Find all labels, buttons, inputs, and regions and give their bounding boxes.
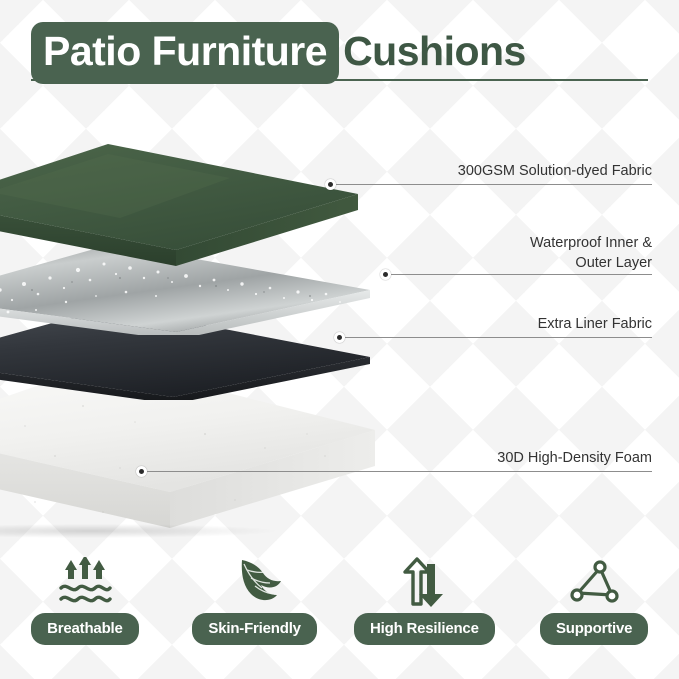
title-highlight-pill: Patio Furniture: [31, 22, 339, 84]
callout-label-fabric: 300GSM Solution-dyed Fabric: [352, 161, 652, 181]
page-title: Patio Furniture Cushions: [31, 22, 526, 84]
feature-badge-row: Breathable Skin-Friendly: [0, 555, 679, 665]
feather-icon: [226, 555, 284, 611]
feature-label-supportive: Supportive: [540, 613, 648, 645]
callout-label-liner: Extra Liner Fabric: [352, 314, 652, 334]
up-down-arrows-icon: [398, 555, 450, 611]
callout-label-waterproof: Waterproof Inner & Outer Layer: [352, 233, 652, 273]
title-plain-text: Cushions: [339, 22, 526, 84]
header: Patio Furniture Cushions: [0, 0, 679, 88]
feature-breathable[interactable]: Breathable: [10, 555, 160, 645]
drop-shadow: [0, 524, 275, 538]
title-divider: [31, 79, 648, 81]
callout-line-fabric: [336, 184, 652, 185]
feature-skin-friendly[interactable]: Skin-Friendly: [180, 555, 330, 645]
callout-line-waterproof: [391, 274, 652, 275]
callout-dot-foam[interactable]: [136, 466, 147, 477]
callout-line-liner: [345, 337, 652, 338]
breathable-airflow-waves-icon: [54, 555, 116, 611]
feature-label-high-resilience: High Resilience: [354, 613, 495, 645]
callout-line-foam: [147, 471, 652, 472]
feature-high-resilience[interactable]: High Resilience: [349, 555, 499, 645]
triangle-nodes-icon: [566, 555, 622, 611]
feature-supportive[interactable]: Supportive: [519, 555, 669, 645]
callout-dot-liner[interactable]: [334, 332, 345, 343]
layer-fabric: [0, 140, 360, 270]
feature-label-breathable: Breathable: [31, 613, 139, 645]
callout-dot-fabric[interactable]: [325, 179, 336, 190]
callout-label-foam: 30D High-Density Foam: [352, 448, 652, 468]
feature-label-skin-friendly: Skin-Friendly: [192, 613, 316, 645]
infographic-page: Patio Furniture Cushions: [0, 0, 679, 679]
